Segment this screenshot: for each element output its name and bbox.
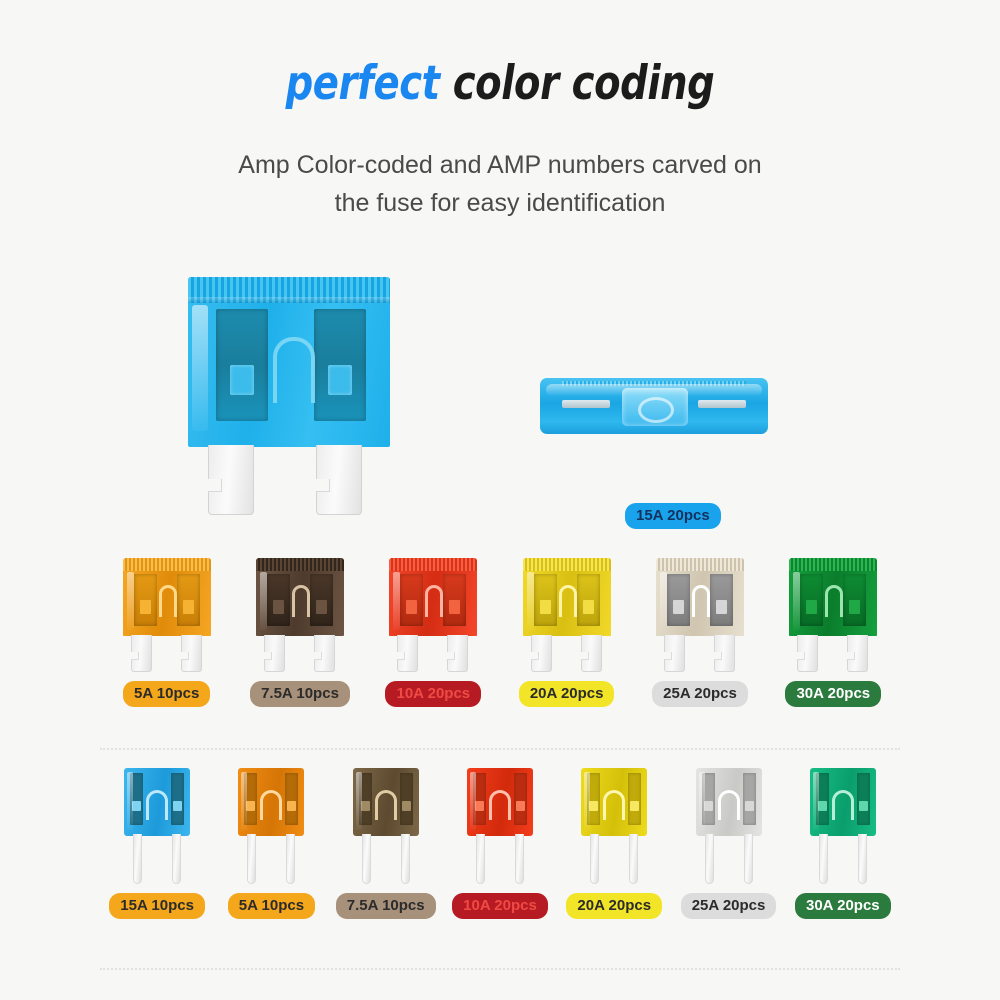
fuse-filament [603, 790, 625, 820]
fuse-notch-right [516, 801, 525, 811]
fuse-window-right [857, 773, 870, 825]
fuse-blade-left [797, 635, 818, 672]
fuse-highlight [527, 572, 534, 630]
standard-fuse-art [385, 558, 481, 672]
fuse-item: 25A 20pcs [633, 558, 766, 707]
fuse-filament [832, 790, 854, 820]
fuse-window-right [514, 773, 527, 825]
fuse-filament [489, 790, 511, 820]
fuse-notch-left [273, 600, 284, 614]
amp-badge: 7.5A 10pcs [250, 681, 350, 707]
fuse-window-right [743, 773, 756, 825]
page-subtitle-line-1: Amp Color-coded and AMP numbers carved o… [0, 146, 1000, 184]
row-divider-top [100, 748, 900, 750]
fuse-blade-left [664, 635, 685, 672]
fuse-item: 10A 20pcs [367, 558, 500, 707]
mini-fuse-art [571, 768, 657, 884]
fuse-blade-right [847, 635, 868, 672]
fuse-window-left [534, 574, 557, 626]
mini-fuse-art [343, 768, 429, 884]
hero-fuse-notch-left [230, 365, 254, 395]
fuse-blade-right [172, 834, 181, 884]
fuse-image [114, 768, 200, 884]
fuse-highlight [127, 572, 134, 630]
fuse-image [457, 768, 543, 884]
fuse-blade-right [515, 834, 524, 884]
fuse-window-right [710, 574, 733, 626]
standard-fuse-art [652, 558, 748, 672]
fuse-window-right [843, 574, 866, 626]
fuse-blade-left [590, 834, 599, 884]
row-divider-bottom [100, 968, 900, 970]
fuse-notch-left [406, 600, 417, 614]
fuse-filament [159, 585, 177, 617]
fuse-image [119, 558, 215, 672]
mini-fuse-art [228, 768, 314, 884]
fuse-item: 20A 20pcs [500, 558, 633, 707]
fuse-blade-left [531, 635, 552, 672]
fuse-item: 15A 10pcs [100, 768, 214, 919]
side-fuse-contact-left [562, 400, 610, 408]
side-fuse-highlight [546, 384, 762, 396]
fuse-window-right [443, 574, 466, 626]
fuse-highlight [584, 772, 590, 830]
fuse-image [343, 768, 429, 884]
fuse-highlight [813, 772, 819, 830]
fuse-item: 7.5A 10pcs [329, 768, 443, 919]
fuse-window-left [134, 574, 157, 626]
fuse-notch-left [132, 801, 141, 811]
fuse-ribbed-top [256, 558, 344, 571]
fuse-filament [559, 585, 577, 617]
mini-fuse-art [686, 768, 772, 884]
page-title-accent: perfect [286, 56, 440, 111]
fuse-item: 20A 20pcs [557, 768, 671, 919]
fuse-highlight [660, 572, 667, 630]
fuse-filament [825, 585, 843, 617]
fuse-window-left [267, 574, 290, 626]
fuse-filament [425, 585, 443, 617]
standard-fuse-art [519, 558, 615, 672]
fuse-image [519, 558, 615, 672]
fuse-window-right [177, 574, 200, 626]
fuse-item: 30A 20pcs [767, 558, 900, 707]
fuse-notch-left [361, 801, 370, 811]
fuse-image [785, 558, 881, 672]
mini-fuse-art [457, 768, 543, 884]
amp-badge: 25A 20pcs [652, 681, 748, 707]
amp-badge: 10A 20pcs [385, 681, 481, 707]
hero-amp-badge: 15A 20pcs [625, 503, 721, 529]
fuse-highlight [241, 772, 247, 830]
hero-fuse-notch-right [328, 365, 352, 395]
fuse-blade-right [447, 635, 468, 672]
fuse-blade-right [744, 834, 753, 884]
fuse-notch-right [745, 801, 754, 811]
fuse-image [252, 558, 348, 672]
fuse-item: 5A 10pcs [100, 558, 233, 707]
fuse-window-right [628, 773, 641, 825]
fuse-highlight [470, 772, 476, 830]
fuse-filament [146, 790, 168, 820]
hero-fuse-highlight [192, 305, 208, 431]
fuse-filament [692, 585, 710, 617]
page-subtitle-line-2: the fuse for easy identification [0, 184, 1000, 222]
fuse-blade-right [714, 635, 735, 672]
fuse-blade-left [476, 834, 485, 884]
fuse-notch-left [246, 801, 255, 811]
fuse-ribbed-top [123, 558, 211, 571]
amp-badge: 5A 10pcs [123, 681, 210, 707]
fuse-filament [292, 585, 310, 617]
standard-fuse-art [252, 558, 348, 672]
fuse-item: 7.5A 10pcs [233, 558, 366, 707]
fuse-window-left [800, 574, 823, 626]
fuse-window-right [285, 773, 298, 825]
fuse-blade-left [362, 834, 371, 884]
fuse-blade-left [397, 635, 418, 672]
fuse-notch-right [287, 801, 296, 811]
product-infographic: perfect color coding Amp Color-coded and… [0, 0, 1000, 1000]
amp-badge: 7.5A 10pcs [336, 893, 436, 919]
fuse-highlight [356, 772, 362, 830]
page-title-main: color coding [453, 56, 715, 111]
page-subtitle: Amp Color-coded and AMP numbers carved o… [0, 146, 1000, 222]
fuse-blade-right [314, 635, 335, 672]
fuse-image [686, 768, 772, 884]
fuse-notch-right [859, 801, 868, 811]
fuse-blade-left [247, 834, 256, 884]
fuse-blade-right [581, 635, 602, 672]
hero-standard-fuse-image [178, 277, 400, 515]
fuse-blade-right [629, 834, 638, 884]
fuse-blade-left [705, 834, 714, 884]
amp-badge: 15A 10pcs [109, 893, 205, 919]
fuse-highlight [260, 572, 267, 630]
fuse-item: 25A 20pcs [671, 768, 785, 919]
fuse-window-right [400, 773, 413, 825]
fuse-blade-left [133, 834, 142, 884]
fuse-filament [718, 790, 740, 820]
fuse-blade-right [401, 834, 410, 884]
fuse-window-right [310, 574, 333, 626]
amp-badge: 30A 20pcs [795, 893, 891, 919]
fuse-window-right [171, 773, 184, 825]
standard-fuse-row: 5A 10pcs7.5A 10pcs10A 20pcs20A 20pcs25A … [100, 558, 900, 707]
fuse-notch-left [704, 801, 713, 811]
mini-fuse-art [114, 768, 200, 884]
hero-fuse-window-left [216, 309, 268, 421]
hero-fuse-window-right [314, 309, 366, 421]
fuse-notch-left [673, 600, 684, 614]
fuse-image [385, 558, 481, 672]
fuse-blade-right [181, 635, 202, 672]
fuse-blade-left [131, 635, 152, 672]
fuse-notch-left [806, 600, 817, 614]
fuse-ribbed-top [389, 558, 477, 571]
amp-badge: 30A 20pcs [785, 681, 881, 707]
hero-fuse-blade-left [208, 445, 254, 515]
fuse-window-right [577, 574, 600, 626]
fuse-notch-left [540, 600, 551, 614]
fuse-blade-right [858, 834, 867, 884]
fuse-window-left [400, 574, 423, 626]
fuse-notch-right [316, 600, 327, 614]
fuse-notch-left [475, 801, 484, 811]
fuse-notch-left [140, 600, 151, 614]
fuse-item: 5A 10pcs [214, 768, 328, 919]
standard-fuse-art [785, 558, 881, 672]
fuse-ribbed-top [523, 558, 611, 571]
fuse-window-left [667, 574, 690, 626]
mini-fuse-art [800, 768, 886, 884]
hero-fuse-filament [273, 337, 315, 403]
fuse-ribbed-top [656, 558, 744, 571]
fuse-notch-right [716, 600, 727, 614]
amp-badge: 20A 20pcs [566, 893, 662, 919]
fuse-filament [260, 790, 282, 820]
fuse-notch-right [849, 600, 860, 614]
page-title: perfect color coding [90, 56, 910, 111]
hero-side-view-fuse-image [540, 378, 768, 434]
fuse-highlight [699, 772, 705, 830]
standard-fuse-art [119, 558, 215, 672]
fuse-highlight [793, 572, 800, 630]
fuse-blade-left [264, 635, 285, 672]
hero-fuse-ribbed-top [188, 277, 390, 303]
fuse-notch-right [183, 600, 194, 614]
amp-badge: 5A 10pcs [228, 893, 315, 919]
fuse-blade-right [286, 834, 295, 884]
side-fuse-contact-right [698, 400, 746, 408]
fuse-notch-right [402, 801, 411, 811]
fuse-image [652, 558, 748, 672]
fuse-notch-right [630, 801, 639, 811]
fuse-item: 30A 20pcs [786, 768, 900, 919]
fuse-ribbed-top [789, 558, 877, 571]
fuse-image [800, 768, 886, 884]
fuse-highlight [393, 572, 400, 630]
fuse-notch-left [589, 801, 598, 811]
fuse-item: 10A 20pcs [443, 768, 557, 919]
fuse-notch-left [818, 801, 827, 811]
fuse-notch-right [449, 600, 460, 614]
fuse-notch-right [173, 801, 182, 811]
amp-badge: 25A 20pcs [681, 893, 777, 919]
amp-badge: 10A 20pcs [452, 893, 548, 919]
fuse-image [228, 768, 314, 884]
fuse-blade-left [819, 834, 828, 884]
fuse-filament [375, 790, 397, 820]
mini-fuse-row: 15A 10pcs5A 10pcs7.5A 10pcs10A 20pcs20A … [100, 768, 900, 919]
hero-fuse-blade-right [316, 445, 362, 515]
fuse-notch-right [583, 600, 594, 614]
fuse-image [571, 768, 657, 884]
fuse-highlight [127, 772, 133, 830]
amp-badge: 20A 20pcs [519, 681, 615, 707]
